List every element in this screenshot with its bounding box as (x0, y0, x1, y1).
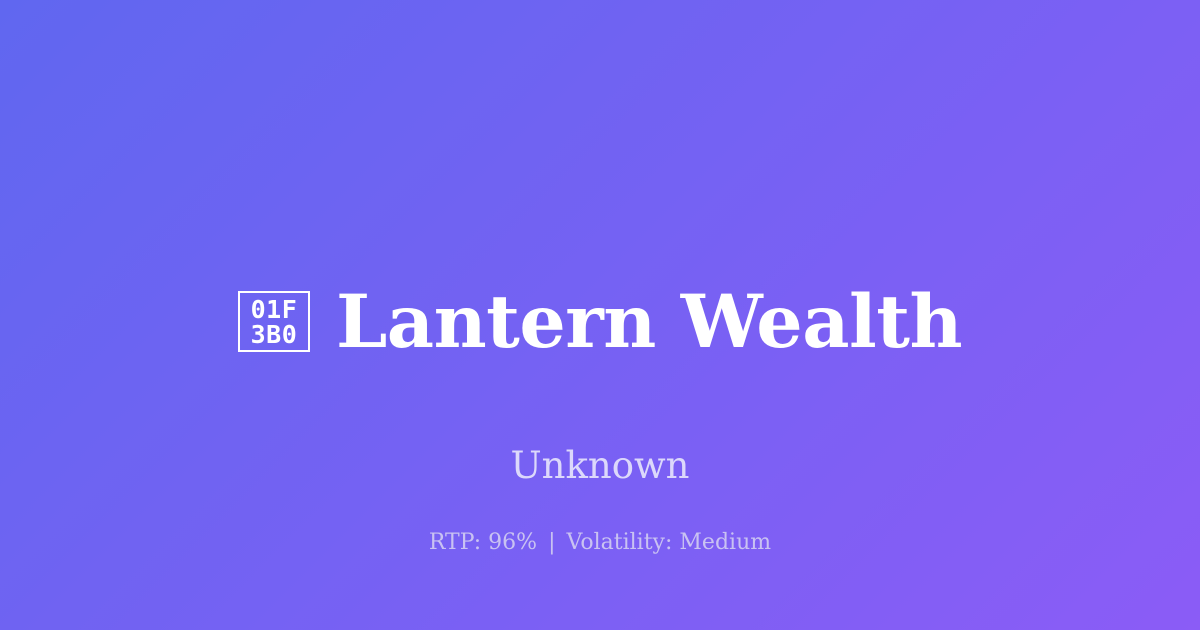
volatility-value: Medium (679, 530, 771, 555)
page-title: Lantern Wealth (336, 281, 962, 363)
rtp-value: 96% (488, 530, 537, 555)
tofu-codepoint-high: 01F (251, 297, 298, 322)
og-share-card: 01F 3B0 Lantern Wealth Unknown RTP: 96% … (0, 0, 1200, 630)
title-row: 01F 3B0 Lantern Wealth (238, 232, 962, 412)
tofu-codepoint-low: 3B0 (251, 322, 298, 347)
hero-block: 01F 3B0 Lantern Wealth Unknown (0, 232, 1200, 488)
game-provider-subtitle: Unknown (510, 444, 689, 488)
stats-separator: | (544, 530, 559, 555)
game-stats-line: RTP: 96% | Volatility: Medium (0, 528, 1200, 558)
rtp-label: RTP: (429, 530, 481, 555)
volatility-label: Volatility: (567, 530, 673, 555)
slot-machine-icon: 01F 3B0 (238, 291, 310, 352)
